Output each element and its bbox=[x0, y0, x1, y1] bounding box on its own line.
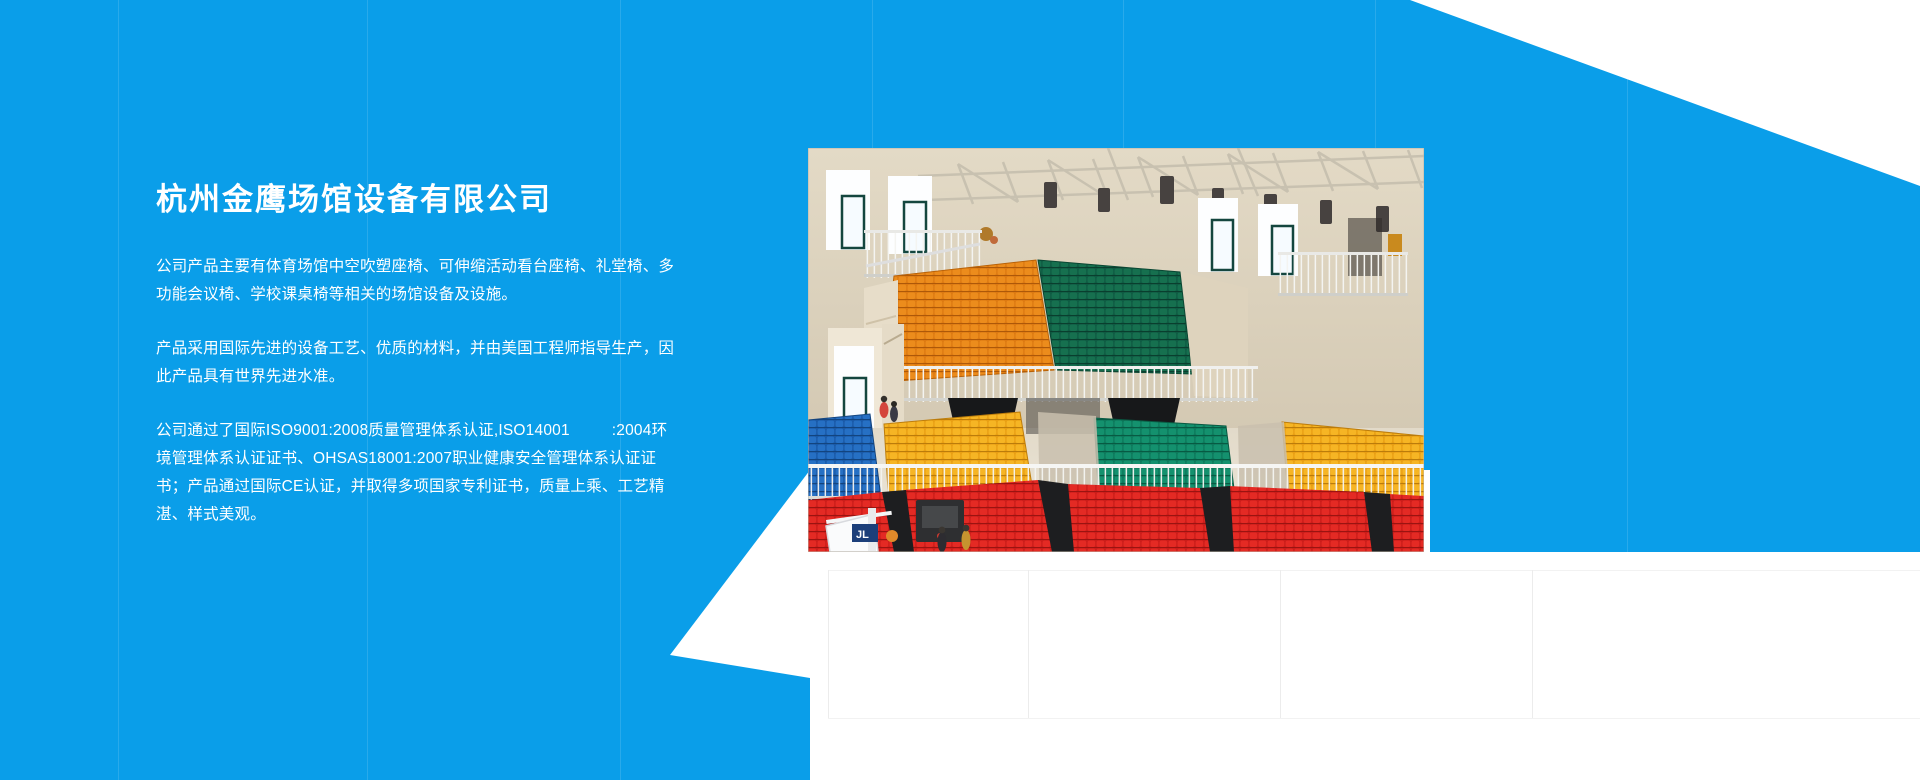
mid-railing bbox=[868, 366, 1258, 402]
stadium-photo-illustration: JL bbox=[808, 148, 1424, 552]
svg-text:JL: JL bbox=[856, 529, 869, 541]
paragraph-certifications: 公司通过了国际ISO9001:2008质量管理体系认证,ISO14001:200… bbox=[156, 417, 676, 529]
upper-balcony-railing-right bbox=[1278, 252, 1408, 296]
paragraph-quality: 产品采用国际先进的设备工艺、优质的材料，并由美国工程师指导生产，因此产品具有世界… bbox=[156, 335, 676, 391]
seating-block-darkgreen-upper bbox=[1038, 260, 1192, 374]
cert-line-part1: 公司通过了国际ISO9001:2008质量管理体系认证,ISO14001 bbox=[156, 422, 570, 439]
white-bottom-panel bbox=[810, 552, 1920, 780]
page-title: 杭州金鹰场馆设备有限公司 bbox=[156, 182, 676, 219]
paragraph-products: 公司产品主要有体育场馆中空吹塑座椅、可伸缩活动看台座椅、礼堂椅、多功能会议椅、学… bbox=[156, 253, 676, 309]
hero-banner: 杭州金鹰场馆设备有限公司 公司产品主要有体育场馆中空吹塑座椅、可伸缩活动看台座椅… bbox=[0, 0, 1920, 780]
stadium-seating-photo: JL bbox=[808, 148, 1424, 552]
seating-block-orange-upper bbox=[882, 260, 1054, 382]
intro-copy-block: 杭州金鹰场馆设备有限公司 公司产品主要有体育场馆中空吹塑座椅、可伸缩活动看台座椅… bbox=[156, 182, 676, 529]
